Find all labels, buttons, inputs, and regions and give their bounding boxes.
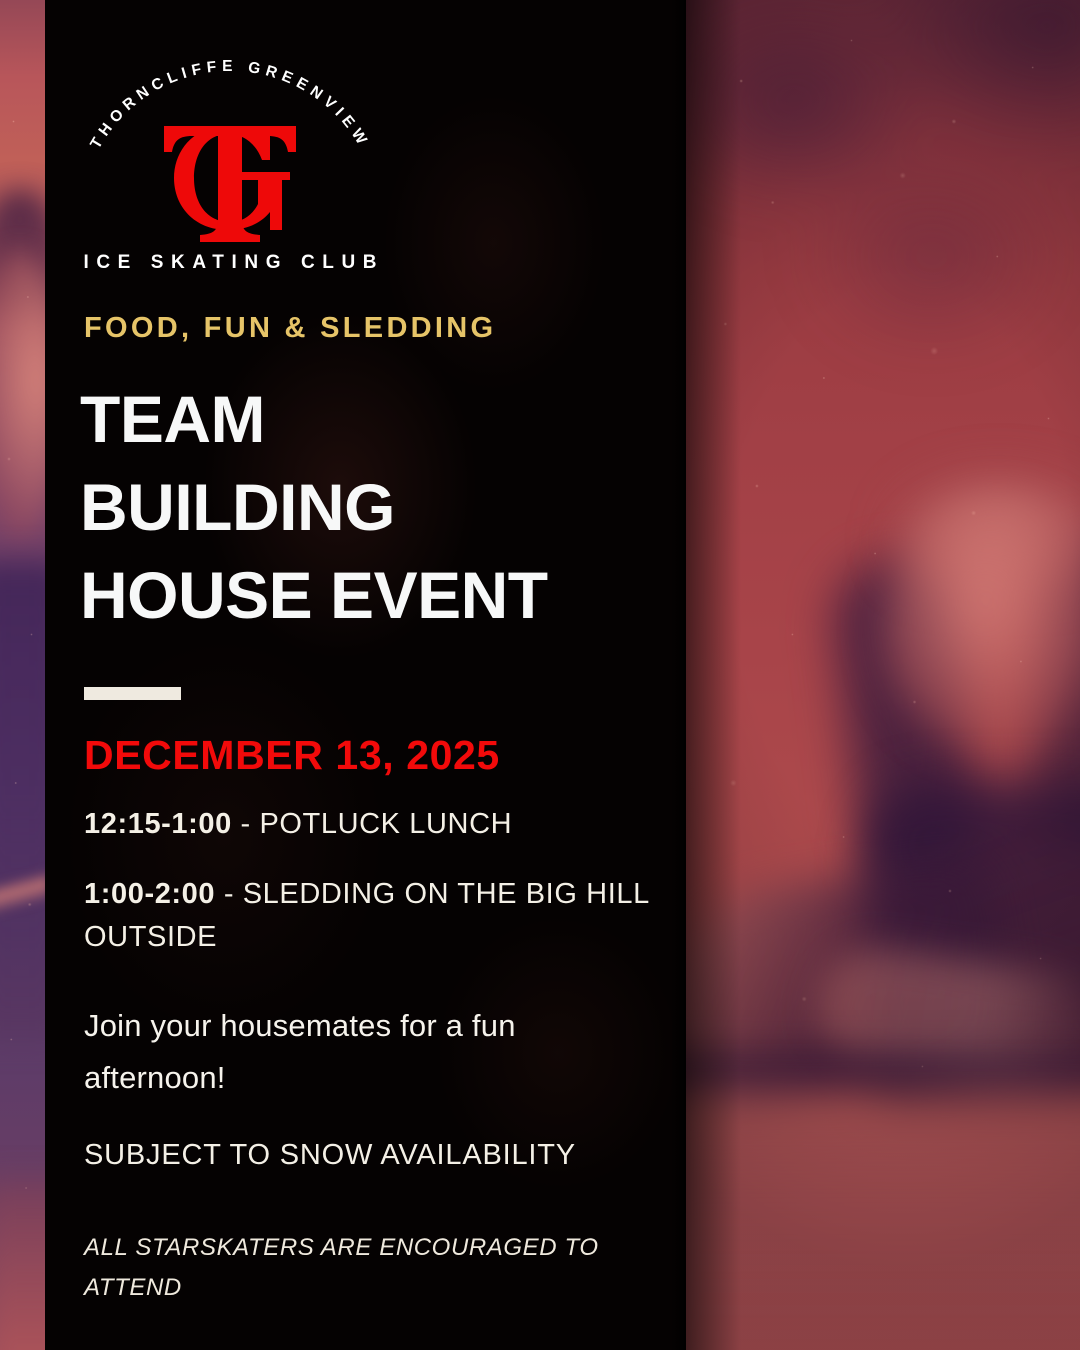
schedule-time: 12:15-1:00 (84, 808, 232, 840)
schedule-time: 1:00-2:00 (84, 878, 215, 910)
right-photo-sledding (686, 0, 1080, 1350)
panel-right-edge-shadow (670, 0, 686, 1350)
attendance-note: ALL STARSKATERS ARE ENCOURAGED TO ATTEND (84, 1228, 644, 1308)
schedule-separator: - (232, 808, 260, 840)
left-photo-strip (0, 0, 45, 1350)
kicker-text: FOOD, FUN & SLEDDING (84, 312, 496, 345)
snow-disclaimer: SUBJECT TO SNOW AVAILABILITY (84, 1134, 644, 1177)
tg-monogram-icon (130, 108, 330, 248)
poster-canvas: THORNCLIFFE GREENVIEW ICE SKATING CLUB F… (0, 0, 1080, 1350)
logo-subtitle: ICE SKATING CLUB (55, 252, 405, 274)
invitation-blurb: Join your housemates for a fun afternoon… (84, 1000, 659, 1104)
left-photo-snow-specks (0, 0, 45, 1350)
schedule-separator: - (215, 878, 243, 910)
schedule-item: 12:15-1:00 - POTLUCK LUNCH (84, 803, 654, 846)
schedule-activity: POTLUCK LUNCH (259, 808, 512, 840)
event-date: DECEMBER 13, 2025 (84, 732, 500, 779)
schedule-item: 1:00-2:00 - SLEDDING ON THE BIG HILL OUT… (84, 873, 654, 959)
logo-monogram (55, 108, 405, 248)
club-logo: THORNCLIFFE GREENVIEW ICE SKATING CLUB (55, 30, 405, 270)
right-photo-vignette (686, 0, 1080, 1350)
schedule-list: 12:15-1:00 - POTLUCK LUNCH 1:00-2:00 - S… (84, 803, 654, 986)
divider-rule (84, 687, 181, 700)
page-title: TEAM BUILDING HOUSE EVENT (80, 375, 548, 639)
